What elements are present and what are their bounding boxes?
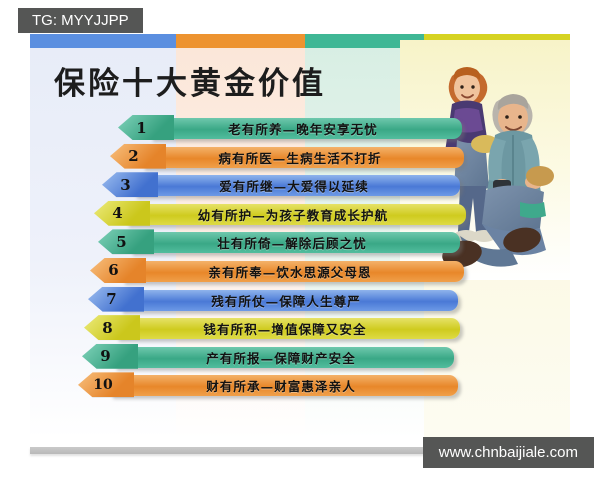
value-number-chevron[interactable]: 1 — [118, 115, 174, 140]
value-text: 幼有所护—为孩子教育成长护航 — [126, 204, 460, 225]
value-bar[interactable]: 老有所养—晚年安享无忧 — [150, 118, 462, 139]
value-text: 残有所仗—保障人生尊严 — [120, 290, 452, 311]
slide-stage: 保险十大黄金价值 — [0, 0, 600, 480]
value-number-chevron[interactable]: 2 — [110, 144, 166, 169]
value-row[interactable]: 财有所承—财富惠泽亲人10 — [30, 373, 570, 402]
value-number-chevron[interactable]: 4 — [94, 201, 150, 226]
value-text: 老有所养—晚年安享无忧 — [150, 118, 456, 139]
value-bar[interactable]: 产有所报—保障财产安全 — [114, 347, 454, 368]
value-number: 2 — [128, 147, 138, 165]
value-bar[interactable]: 亲有所奉—饮水思源父母恩 — [122, 261, 464, 282]
value-bar[interactable]: 病有所医—生病生活不打折 — [142, 147, 464, 168]
value-number-chevron[interactable]: 7 — [88, 287, 144, 312]
value-row[interactable]: 钱有所积—增值保障又安全8 — [30, 316, 570, 345]
value-row[interactable]: 亲有所奉—饮水思源父母恩6 — [30, 259, 570, 288]
value-number: 6 — [108, 261, 118, 279]
value-number: 4 — [112, 204, 122, 222]
value-text: 病有所医—生病生活不打折 — [142, 147, 458, 168]
slide-card: 保险十大黄金价值 — [30, 34, 570, 438]
value-number: 5 — [116, 233, 126, 251]
value-bar[interactable]: 财有所承—财富惠泽亲人 — [110, 375, 458, 396]
value-number: 1 — [136, 119, 146, 137]
watermark-bottom-right: www.chnbaijiale.com — [423, 437, 594, 468]
value-number-chevron[interactable]: 6 — [90, 258, 146, 283]
value-text: 爱有所继—大爱得以延续 — [134, 175, 454, 196]
value-text: 壮有所倚—解除后顾之忧 — [130, 232, 454, 253]
value-number: 7 — [106, 290, 116, 308]
ribbon-segment-orange — [176, 34, 306, 48]
value-list: 老有所养—晚年安享无忧1病有所医—生病生活不打折2爱有所继—大爱得以延续3幼有所… — [30, 116, 570, 402]
value-row[interactable]: 幼有所护—为孩子教育成长护航4 — [30, 202, 570, 231]
value-row[interactable]: 产有所报—保障财产安全9 — [30, 345, 570, 374]
value-bar[interactable]: 壮有所倚—解除后顾之忧 — [130, 232, 460, 253]
ribbon-segment-blue — [30, 34, 176, 48]
value-bar[interactable]: 爱有所继—大爱得以延续 — [134, 175, 460, 196]
value-number: 8 — [102, 319, 112, 337]
value-row[interactable]: 病有所医—生病生活不打折2 — [30, 145, 570, 174]
value-row[interactable]: 爱有所继—大爱得以延续3 — [30, 173, 570, 202]
value-number: 10 — [93, 377, 112, 393]
watermark-top-left: TG: MYYJJPP — [18, 8, 143, 33]
value-text: 财有所承—财富惠泽亲人 — [110, 375, 452, 396]
value-row[interactable]: 残有所仗—保障人生尊严7 — [30, 288, 570, 317]
value-row[interactable]: 老有所养—晚年安享无忧1 — [30, 116, 570, 145]
value-number-chevron[interactable]: 3 — [102, 172, 158, 197]
value-number-chevron[interactable]: 8 — [84, 315, 140, 340]
value-number-chevron[interactable]: 10 — [78, 372, 134, 397]
value-number: 3 — [120, 176, 130, 194]
value-number-chevron[interactable]: 5 — [98, 229, 154, 254]
value-bar[interactable]: 残有所仗—保障人生尊严 — [120, 290, 458, 311]
value-text: 亲有所奉—饮水思源父母恩 — [122, 261, 458, 282]
value-text: 产有所报—保障财产安全 — [114, 347, 448, 368]
value-bar[interactable]: 钱有所积—增值保障又安全 — [116, 318, 460, 339]
slide-title: 保险十大黄金价值 — [54, 58, 326, 103]
value-row[interactable]: 壮有所倚—解除后顾之忧5 — [30, 230, 570, 259]
value-number: 9 — [100, 347, 110, 365]
value-number-chevron[interactable]: 9 — [82, 344, 138, 369]
value-bar[interactable]: 幼有所护—为孩子教育成长护航 — [126, 204, 466, 225]
value-text: 钱有所积—增值保障又安全 — [116, 318, 454, 339]
